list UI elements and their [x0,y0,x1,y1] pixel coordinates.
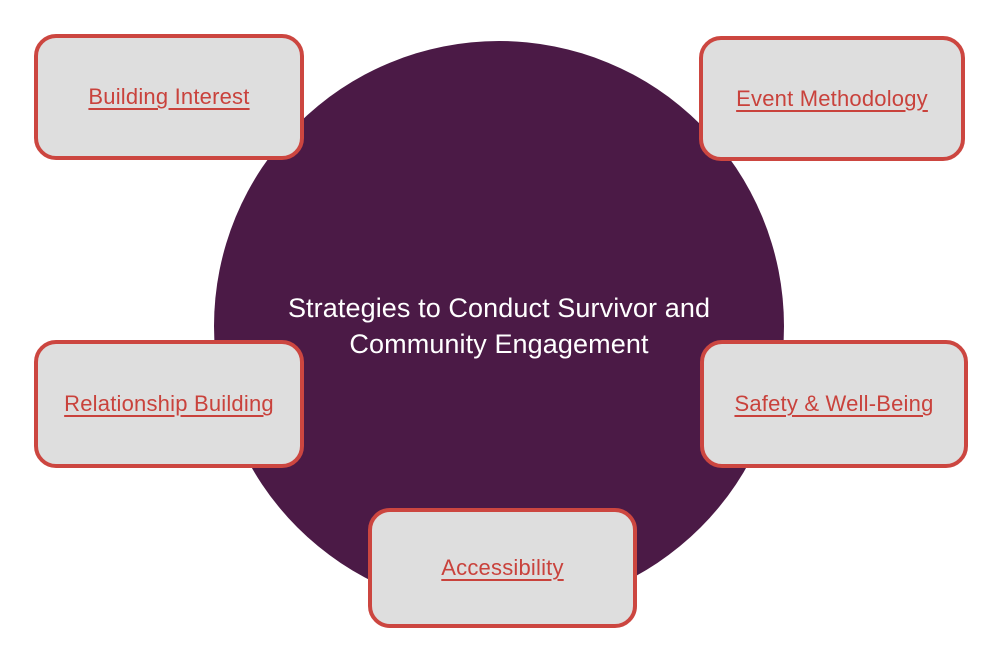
node-building-interest[interactable]: Building Interest [34,34,304,160]
node-accessibility[interactable]: Accessibility [368,508,637,628]
node-building-interest-label: Building Interest [88,84,249,110]
node-accessibility-label: Accessibility [441,555,563,581]
node-event-methodology-label: Event Methodology [736,86,928,112]
diagram-canvas: Strategies to Conduct Survivor and Commu… [0,0,999,652]
node-relationship-building[interactable]: Relationship Building [34,340,304,468]
node-relationship-building-label: Relationship Building [64,391,274,417]
node-event-methodology[interactable]: Event Methodology [699,36,965,161]
hub-title: Strategies to Conduct Survivor and Commu… [229,290,769,362]
node-safety-wellbeing[interactable]: Safety & Well-Being [700,340,968,468]
node-safety-wellbeing-label: Safety & Well-Being [734,391,933,417]
